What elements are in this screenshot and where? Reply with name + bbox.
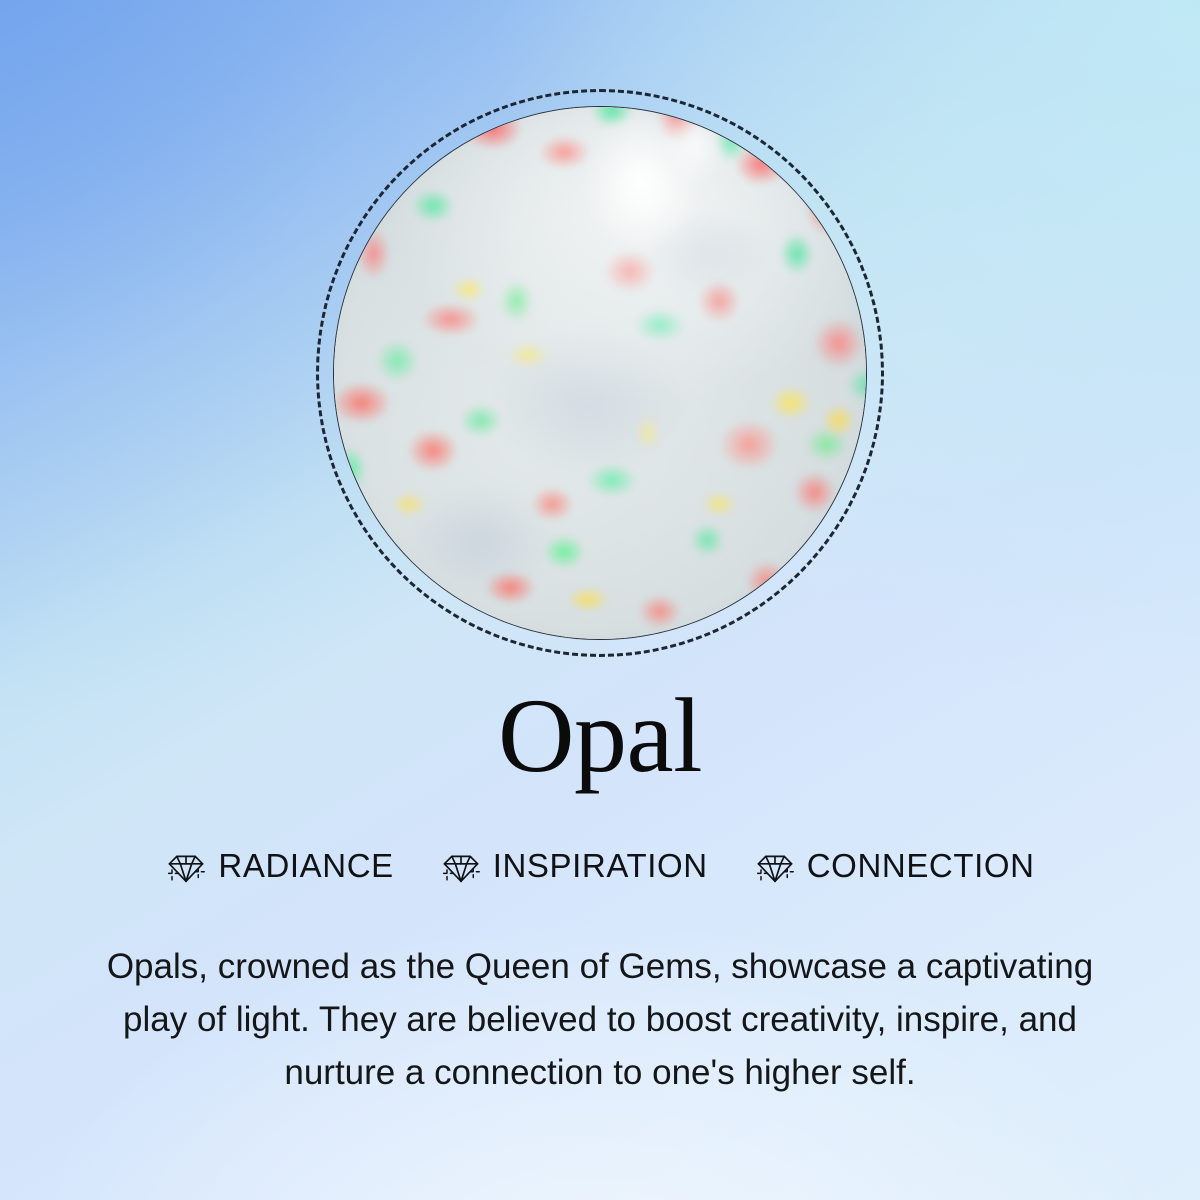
opal-edge-shading	[333, 106, 867, 640]
keyword-label: CONNECTION	[807, 847, 1035, 885]
keyword-item-connection: CONNECTION	[754, 845, 1035, 887]
keyword-item-inspiration: INSPIRATION	[440, 845, 708, 887]
diamond-gem-icon	[440, 845, 482, 887]
keyword-item-radiance: RADIANCE	[165, 845, 393, 887]
page-title: Opal	[0, 683, 1200, 789]
description-text: Opals, crowned as the Queen of Gems, sho…	[100, 940, 1100, 1099]
diamond-gem-icon	[754, 845, 796, 887]
keyword-label: INSPIRATION	[493, 847, 708, 885]
keyword-label: RADIANCE	[218, 847, 393, 885]
gemstone-info-card: Opal RADIANCE	[0, 0, 1200, 1200]
diamond-gem-icon	[165, 845, 207, 887]
opal-stone	[333, 106, 867, 640]
gemstone-illustration	[316, 89, 884, 657]
keyword-list: RADIANCE INSPIRATION	[0, 845, 1200, 887]
